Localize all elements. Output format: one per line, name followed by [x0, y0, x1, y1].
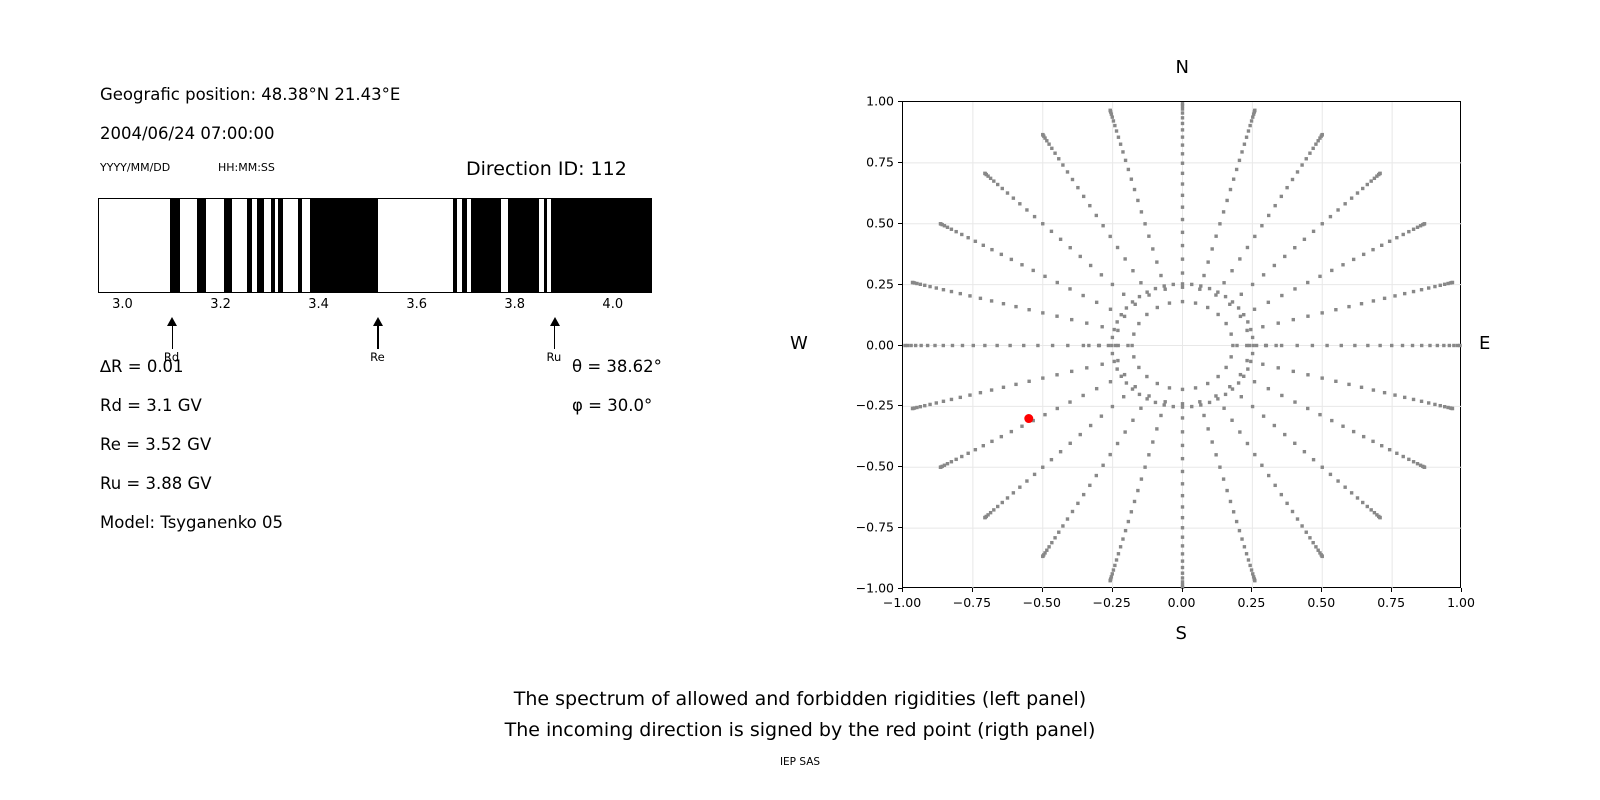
- direction-point: [1181, 143, 1184, 146]
- direction-point: [1132, 355, 1135, 358]
- direction-point: [1181, 257, 1184, 260]
- direction-point: [1066, 170, 1069, 173]
- direction-point: [1108, 109, 1111, 112]
- direction-point: [1041, 555, 1044, 558]
- direction-point: [1402, 233, 1405, 236]
- direction-point: [1428, 344, 1431, 347]
- direction-point: [1068, 400, 1071, 403]
- direction-point: [1138, 393, 1141, 396]
- direction-point: [1181, 231, 1184, 234]
- direction-point: [1181, 482, 1184, 485]
- direction-point: [1439, 404, 1442, 407]
- param-re: Re = 3.52 GV: [100, 435, 211, 454]
- direction-point: [1116, 359, 1119, 362]
- direction-point: [1156, 306, 1159, 309]
- compass-south: S: [1176, 623, 1187, 644]
- direction-point: [939, 222, 942, 225]
- direction-point: [1025, 479, 1028, 482]
- marker-label: Ru: [547, 350, 562, 364]
- direction-point: [1181, 444, 1184, 447]
- direction-point: [1361, 501, 1364, 504]
- param-phi: φ = 30.0°: [572, 396, 652, 415]
- direction-point: [1280, 394, 1283, 397]
- direction-point: [1087, 344, 1090, 347]
- direction-point: [1352, 258, 1355, 261]
- direction-point: [1069, 246, 1072, 249]
- direction-point: [1206, 427, 1209, 430]
- direction-point: [1230, 419, 1233, 422]
- direction-point: [1224, 393, 1227, 396]
- y-tick-label: −1.00: [842, 581, 894, 596]
- direction-point: [1089, 424, 1092, 427]
- direction-point: [1101, 464, 1104, 467]
- direction-point: [1076, 502, 1079, 505]
- direction-point: [1122, 395, 1125, 398]
- direction-point: [1291, 510, 1294, 513]
- direction-point: [1312, 458, 1315, 461]
- direction-point: [1133, 188, 1136, 191]
- direction-point: [1095, 387, 1098, 390]
- direction-point: [911, 407, 914, 410]
- direction-point: [923, 284, 926, 287]
- direction-point: [1341, 263, 1344, 266]
- direction-point: [1305, 531, 1308, 534]
- direction-point: [1423, 466, 1426, 469]
- direction-point: [1126, 344, 1129, 347]
- direction-point: [1151, 247, 1154, 250]
- direction-point: [1101, 224, 1104, 227]
- direction-point: [1237, 381, 1240, 384]
- direction-id-label: Direction ID: 112: [466, 158, 627, 180]
- direction-point: [1117, 344, 1120, 347]
- arrow-up-icon: [550, 317, 560, 326]
- direction-point: [1273, 204, 1276, 207]
- direction-point: [1330, 419, 1333, 422]
- direction-point: [1246, 246, 1249, 249]
- direction-point: [1267, 301, 1270, 304]
- direction-point: [1127, 520, 1130, 523]
- direction-point: [1137, 322, 1140, 325]
- direction-point: [1329, 215, 1332, 218]
- direction-point: [1136, 489, 1139, 492]
- direction-point: [966, 452, 969, 455]
- direction-point: [1089, 264, 1092, 267]
- direction-point: [1366, 183, 1369, 186]
- direction-point: [1155, 260, 1158, 263]
- direction-point: [1181, 416, 1184, 419]
- direction-point: [1181, 566, 1184, 569]
- direction-point: [1139, 281, 1142, 284]
- direction-point: [1216, 290, 1219, 293]
- direction-point: [919, 283, 922, 286]
- direction-point: [1383, 391, 1386, 394]
- direction-point: [1112, 119, 1115, 122]
- direction-point: [1162, 403, 1165, 406]
- direction-point: [1420, 288, 1423, 291]
- direction-point: [1225, 199, 1228, 202]
- direction-point: [1100, 363, 1103, 366]
- direction-point: [1085, 366, 1088, 369]
- direction-point: [1181, 300, 1184, 303]
- direction-point: [1100, 273, 1103, 276]
- y-tick-mark: [898, 345, 902, 346]
- direction-point: [1002, 302, 1005, 305]
- direction-point: [1181, 405, 1184, 408]
- forbidden-band: [247, 199, 252, 292]
- direction-point: [1311, 541, 1314, 544]
- direction-point: [1340, 344, 1343, 347]
- direction-point: [1366, 344, 1369, 347]
- direction-point: [1082, 344, 1085, 347]
- direction-point: [1443, 283, 1446, 286]
- direction-point: [1246, 442, 1249, 445]
- observation-datetime: 2004/06/24 07:00:00: [100, 124, 274, 143]
- direction-point: [1420, 344, 1423, 347]
- x-tick-mark: [902, 588, 903, 592]
- direction-point: [1147, 453, 1150, 456]
- direction-point: [1260, 224, 1263, 227]
- direction-point: [1250, 119, 1253, 122]
- direction-point: [1181, 580, 1184, 583]
- direction-point: [1407, 230, 1410, 233]
- direction-point: [1208, 401, 1211, 404]
- y-tick-mark: [898, 101, 902, 102]
- direction-point: [1222, 281, 1225, 284]
- direction-point: [1027, 308, 1030, 311]
- direction-point: [1131, 300, 1134, 303]
- direction-point: [1245, 136, 1248, 139]
- y-tick-mark: [898, 466, 902, 467]
- direction-point: [1230, 269, 1233, 272]
- direction-point: [911, 281, 914, 284]
- direction-point: [1181, 135, 1184, 138]
- direction-point: [1061, 524, 1064, 527]
- direction-point: [914, 344, 917, 347]
- direction-point: [1168, 301, 1171, 304]
- direction-point: [1210, 247, 1213, 250]
- direction-point: [1250, 568, 1253, 571]
- direction-point: [939, 466, 942, 469]
- direction-point: [1117, 136, 1120, 139]
- direction-point: [1109, 380, 1112, 383]
- direction-point: [1380, 244, 1383, 247]
- direction-point: [1116, 442, 1119, 445]
- y-tick-label: −0.25: [842, 398, 894, 413]
- direction-point: [928, 403, 931, 406]
- direction-point: [1041, 133, 1044, 136]
- direction-point: [1100, 325, 1103, 328]
- direction-point: [1043, 413, 1046, 416]
- direction-point: [1181, 516, 1184, 519]
- direction-point: [1321, 466, 1324, 469]
- y-tick-mark: [898, 405, 902, 406]
- direction-point: [1245, 359, 1248, 362]
- direction-point: [1111, 405, 1114, 408]
- direction-point: [1116, 246, 1119, 249]
- x-tick-label: 0.00: [1168, 595, 1196, 610]
- direction-point: [1139, 407, 1142, 410]
- direction-point: [1122, 293, 1125, 296]
- direction-point: [961, 344, 964, 347]
- direction-point: [1238, 430, 1241, 433]
- direction-point: [1261, 363, 1264, 366]
- direction-point: [1253, 308, 1256, 311]
- direction-point: [1095, 214, 1098, 217]
- direction-point: [1076, 186, 1079, 189]
- direction-point: [1296, 170, 1299, 173]
- direction-point: [1247, 558, 1250, 561]
- param-ru: Ru = 3.88 GV: [100, 474, 212, 493]
- compass-east: E: [1479, 333, 1490, 354]
- direction-point: [933, 344, 936, 347]
- direction-point: [1068, 287, 1071, 290]
- direction-point: [968, 393, 971, 396]
- direction-point: [1162, 284, 1165, 287]
- direction-point: [1277, 321, 1280, 324]
- direction-point: [942, 344, 945, 347]
- direction-point: [1043, 275, 1046, 278]
- direction-point: [1047, 545, 1050, 548]
- direction-point: [1112, 328, 1115, 331]
- direction-point: [1216, 375, 1219, 378]
- direction-point: [1251, 336, 1254, 339]
- direction-point: [1267, 387, 1270, 390]
- direction-point: [1050, 458, 1053, 461]
- direction-point: [1407, 458, 1410, 461]
- direction-point: [1224, 322, 1227, 325]
- direction-point: [1194, 386, 1197, 389]
- direction-point: [1194, 301, 1197, 304]
- direction-point: [1293, 246, 1296, 249]
- direction-point: [966, 236, 969, 239]
- direction-point: [1095, 474, 1098, 477]
- direction-point: [1070, 318, 1073, 321]
- direction-point: [1314, 142, 1317, 145]
- x-tick-mark: [1251, 588, 1252, 592]
- direction-point: [1111, 283, 1114, 286]
- direction-point: [1395, 236, 1398, 239]
- direction-point: [1224, 295, 1227, 298]
- direction-point: [1280, 344, 1283, 347]
- direction-point: [950, 290, 953, 293]
- x-tick-label: −0.25: [1092, 595, 1130, 610]
- direction-point: [1109, 308, 1112, 311]
- forbidden-band: [298, 199, 302, 292]
- forbidden-band: [462, 199, 467, 292]
- direction-point: [1235, 168, 1238, 171]
- direction-point: [1361, 187, 1364, 190]
- direction-point: [1140, 477, 1143, 480]
- direction-point: [1436, 344, 1439, 347]
- direction-point: [1051, 344, 1054, 347]
- direction-point: [1362, 253, 1365, 256]
- x-tick-label: −0.75: [953, 595, 991, 610]
- direction-point: [1112, 360, 1115, 363]
- direction-point: [1181, 182, 1184, 185]
- direction-point: [1133, 500, 1136, 503]
- direction-point: [1330, 269, 1333, 272]
- direction-point: [1008, 344, 1011, 347]
- direction-point: [1371, 248, 1374, 251]
- direction-point: [1245, 329, 1248, 332]
- direction-point: [1033, 215, 1036, 218]
- direction-point: [1293, 400, 1296, 403]
- direction-point: [1253, 579, 1256, 582]
- rigidity-axis: 3.03.23.43.63.84.0RdReRu: [98, 293, 652, 353]
- direction-point: [1202, 274, 1205, 277]
- direction-point: [1206, 382, 1209, 385]
- direction-point: [1245, 552, 1248, 555]
- direction-point: [1115, 320, 1118, 323]
- y-tick-label: 0.00: [842, 337, 894, 352]
- direction-point: [992, 508, 995, 511]
- direction-point: [1057, 157, 1060, 160]
- direction-point: [1300, 524, 1303, 527]
- direction-point: [1321, 222, 1324, 225]
- direction-point: [1190, 405, 1193, 408]
- direction-point: [1000, 253, 1003, 256]
- direction-point: [1199, 284, 1202, 287]
- direction-point: [1181, 271, 1184, 274]
- direction-point: [1334, 308, 1337, 311]
- direction-point: [1253, 380, 1256, 383]
- direction-point: [1393, 393, 1396, 396]
- forbidden-band: [224, 199, 233, 292]
- direction-point: [1232, 510, 1235, 513]
- direction-point: [1300, 163, 1303, 166]
- forbidden-band: [551, 199, 652, 292]
- direction-point: [1154, 401, 1157, 404]
- direction-point: [1403, 292, 1406, 295]
- direction-point: [1010, 430, 1013, 433]
- param-model: Model: Tsyganenko 05: [100, 513, 283, 532]
- direction-point: [1143, 465, 1146, 468]
- direction-point: [1458, 344, 1461, 347]
- caption-line-2: The incoming direction is signed by the …: [0, 719, 1600, 741]
- direction-point: [1014, 383, 1017, 386]
- direction-point: [1050, 230, 1053, 233]
- direction-point: [1061, 163, 1064, 166]
- direction-point: [1206, 306, 1209, 309]
- direction-point: [950, 398, 953, 401]
- direction-point: [1306, 373, 1309, 376]
- direction-point: [1253, 109, 1256, 112]
- direction-point: [1123, 315, 1126, 318]
- direction-point: [1002, 386, 1005, 389]
- direction-point: [1181, 494, 1184, 497]
- direction-point: [1050, 147, 1053, 150]
- direction-point: [979, 391, 982, 394]
- direction-point: [1229, 188, 1232, 191]
- direction-point: [1273, 424, 1276, 427]
- direction-point: [1283, 255, 1286, 258]
- direction-point: [1383, 297, 1386, 300]
- direction-point: [1274, 344, 1277, 347]
- direction-point: [1214, 234, 1217, 237]
- direction-point: [1140, 210, 1143, 213]
- compass-north: N: [1176, 57, 1189, 78]
- direction-point: [1111, 336, 1114, 339]
- rigidity-tick-label: 3.8: [504, 297, 525, 312]
- direction-point: [1181, 102, 1184, 105]
- direction-point: [1312, 230, 1315, 233]
- direction-point: [1163, 400, 1166, 403]
- direction-point: [942, 400, 945, 403]
- direction-point: [1006, 191, 1009, 194]
- y-tick-mark: [898, 588, 902, 589]
- direction-point: [1280, 195, 1283, 198]
- direction-point: [1172, 405, 1175, 408]
- compass-west: W: [790, 333, 808, 354]
- direction-point: [1369, 508, 1372, 511]
- direction-point: [1402, 455, 1405, 458]
- direction-point: [1216, 397, 1219, 400]
- direction-point: [1292, 370, 1295, 373]
- direction-point: [1222, 477, 1225, 480]
- direction-point: [1199, 403, 1202, 406]
- direction-point: [1198, 400, 1201, 403]
- direction-point: [1079, 255, 1082, 258]
- direction-point: [1334, 380, 1337, 383]
- direction-point: [983, 172, 986, 175]
- direction-point: [1156, 382, 1159, 385]
- direction-point: [1350, 196, 1353, 199]
- direction-point: [1261, 325, 1264, 328]
- direction-point: [1311, 147, 1314, 150]
- arrow-up-icon: [167, 317, 177, 326]
- direction-point: [1041, 376, 1044, 379]
- direction-point: [1231, 344, 1234, 347]
- direction-point: [926, 344, 929, 347]
- footer-credit: IEP SAS: [0, 756, 1600, 768]
- direction-point: [960, 233, 963, 236]
- direction-point: [1311, 344, 1314, 347]
- direction-point: [1427, 401, 1430, 404]
- direction-point: [1181, 526, 1184, 529]
- direction-point: [1251, 405, 1254, 408]
- direction-point: [1022, 344, 1025, 347]
- direction-point: [1237, 306, 1240, 309]
- direction-map-plot-area: [902, 101, 1461, 588]
- direction-point: [1448, 344, 1451, 347]
- direction-point: [1041, 222, 1044, 225]
- direction-point: [990, 440, 993, 443]
- date-format-hint: YYYY/MM/DD: [100, 161, 170, 174]
- direction-point: [1181, 205, 1184, 208]
- direction-point: [1012, 491, 1015, 494]
- direction-point: [1018, 202, 1021, 205]
- direction-point: [1181, 505, 1184, 508]
- direction-point: [1108, 579, 1111, 582]
- rigidity-tick-label: 4.0: [602, 297, 623, 312]
- direction-point: [1116, 329, 1119, 332]
- y-tick-mark: [898, 284, 902, 285]
- direction-point: [1130, 177, 1133, 180]
- direction-point: [1181, 162, 1184, 165]
- direction-point: [1347, 305, 1350, 308]
- marker-label: Re: [370, 350, 385, 364]
- direction-point: [1240, 537, 1243, 540]
- direction-point: [972, 344, 975, 347]
- direction-point: [1181, 535, 1184, 538]
- direction-point: [1253, 453, 1256, 456]
- direction-point: [1262, 273, 1265, 276]
- direction-point: [1341, 425, 1344, 428]
- direction-point: [1111, 572, 1114, 575]
- param-rd: Rd = 3.1 GV: [100, 396, 202, 415]
- y-tick-label: 1.00: [842, 94, 894, 109]
- caption-line-1: The spectrum of allowed and forbidden ri…: [0, 688, 1600, 710]
